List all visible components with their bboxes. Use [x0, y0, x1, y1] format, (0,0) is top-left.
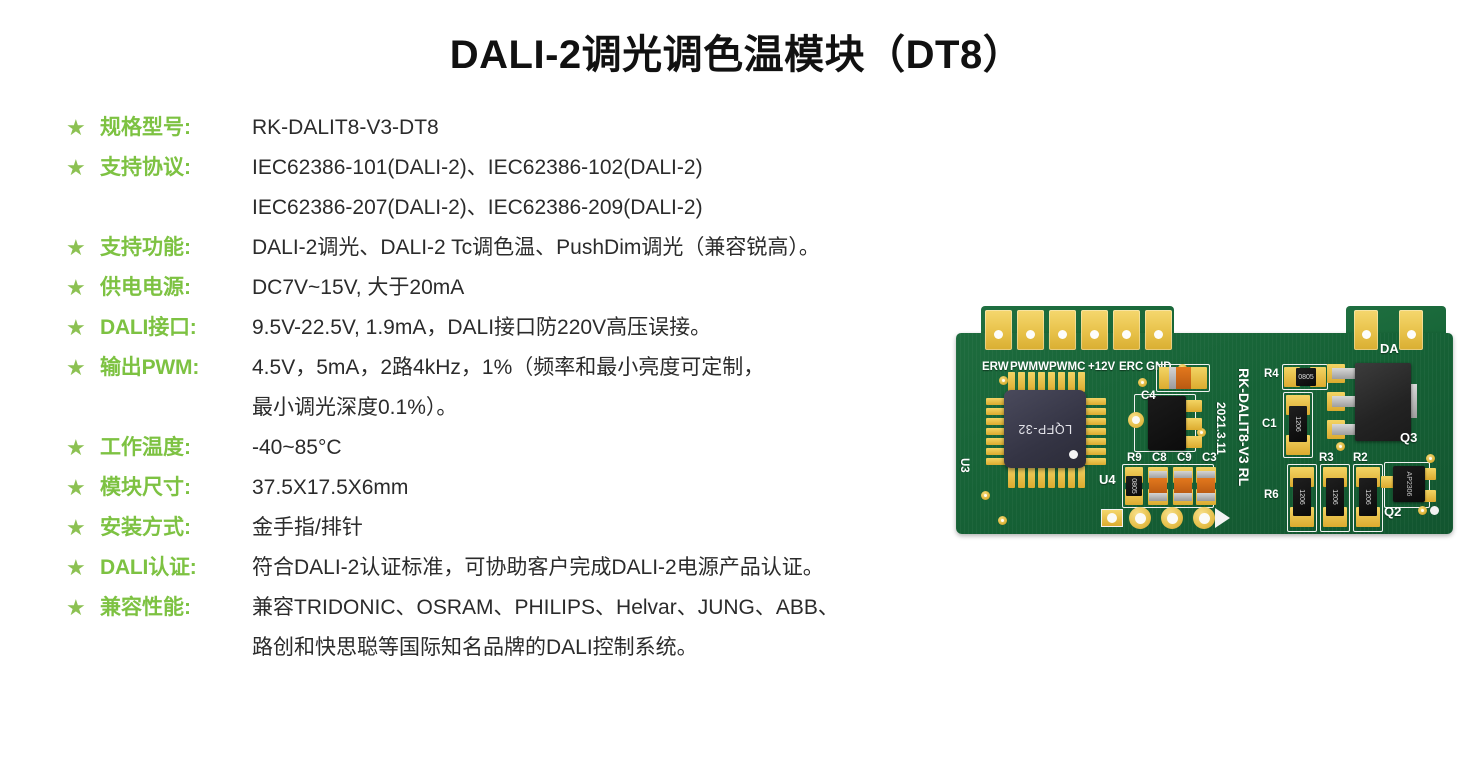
- cap-c4-term-a: [1169, 367, 1176, 389]
- spec-value-line: DALI-2调光、DALI-2 Tc调色温、PushDim调光（兼容锐高）。: [252, 232, 1026, 263]
- spec-label: 规格型号:: [100, 112, 252, 143]
- gold-finger-12v: [1081, 310, 1108, 350]
- ref-label-r3: R3: [1319, 452, 1334, 464]
- spec-values: DALI-2调光、DALI-2 Tc调色温、PushDim调光（兼容锐高）。: [252, 232, 1026, 263]
- star-icon: ★: [66, 432, 100, 463]
- finger-hole: [1407, 330, 1416, 339]
- finger-hole: [994, 330, 1003, 339]
- q3-leg-2: [1332, 396, 1356, 407]
- spec-label: 安装方式:: [100, 512, 252, 543]
- spec-row: ★ 工作温度: -40~85°C: [66, 432, 1026, 463]
- star-icon: ★: [66, 152, 100, 183]
- star-icon: ★: [66, 352, 100, 383]
- spec-value-line: 最小调光深度0.1%）。: [252, 392, 1026, 423]
- star-icon: ★: [66, 312, 100, 343]
- resistor-code: 0805: [1296, 368, 1316, 386]
- via: [998, 516, 1007, 525]
- spec-row: ★ 规格型号: RK-DALIT8-V3-DT8: [66, 112, 1026, 143]
- gold-finger-erc: [1113, 310, 1140, 350]
- spec-value-line: 37.5X17.5X6mm: [252, 472, 1026, 503]
- transistor-q2-body: AP2306: [1393, 466, 1425, 502]
- spec-value-line: 金手指/排针: [252, 512, 1026, 543]
- via: [1426, 454, 1435, 463]
- spec-values: -40~85°C: [252, 432, 1026, 463]
- star-icon: ★: [66, 552, 100, 583]
- regulator-tab-pad: [1128, 412, 1144, 428]
- resistor-code: 1206: [1349, 488, 1387, 506]
- ref-label-u3: U3: [958, 458, 970, 473]
- silkscreen-model-text: RK-DALIT8-V3 RL: [1236, 368, 1252, 486]
- ref-label-q3: Q3: [1400, 432, 1417, 444]
- page-title: DALI-2调光调色温模块（DT8）: [0, 22, 1473, 80]
- via: [1430, 506, 1439, 515]
- ref-label-u4: U4: [1099, 474, 1116, 486]
- spec-value-line: 路创和快思聪等国际知名品牌的DALI控制系统。: [252, 632, 1026, 663]
- ref-label-r6: R6: [1264, 489, 1279, 501]
- ref-label-q2: Q2: [1384, 506, 1401, 518]
- ref-label-c8: C8: [1152, 452, 1167, 464]
- spec-value-line: 4.5V，5mA，2路4kHz，1%（频率和最小亮度可定制，: [252, 352, 1026, 383]
- spec-values: RK-DALIT8-V3-DT8: [252, 112, 1026, 143]
- resistor-code: 0805: [1124, 478, 1144, 494]
- ref-label-r9: R9: [1127, 452, 1142, 464]
- ref-label-r2: R2: [1353, 452, 1368, 464]
- via: [1418, 506, 1427, 515]
- star-icon: ★: [66, 272, 100, 303]
- pcb-product-photo: DA ERW PWMW PWMC +12V ERC GND: [956, 306, 1453, 534]
- test-pad-round-1: [1129, 507, 1151, 529]
- spec-label: 输出PWM:: [100, 352, 252, 383]
- finger-hole: [1362, 330, 1371, 339]
- spec-list: ★ 规格型号: RK-DALIT8-V3-DT8 ★ 支持协议: IEC6238…: [66, 112, 1026, 672]
- gold-finger-pwmw: [1017, 310, 1044, 350]
- spec-row: ★ 模块尺寸: 37.5X17.5X6mm: [66, 472, 1026, 503]
- via: [1138, 378, 1147, 387]
- transistor-code: AP2306: [1391, 468, 1427, 500]
- ref-label-c4: C4: [1141, 390, 1156, 402]
- spec-label: 工作温度:: [100, 432, 252, 463]
- finger-hole: [1122, 330, 1131, 339]
- ref-label-r4: R4: [1264, 368, 1279, 380]
- ic-pin1-dot: [1069, 450, 1078, 459]
- spec-value-line: DC7V~15V, 大于20mA: [252, 272, 1026, 303]
- star-icon: ★: [66, 232, 100, 263]
- gold-finger-pwmc: [1049, 310, 1076, 350]
- finger-hole: [1154, 330, 1163, 339]
- ref-label-c9: C9: [1177, 452, 1192, 464]
- q3-leg-1: [1332, 368, 1356, 379]
- spec-value-line: 符合DALI-2认证标准，可协助客户完成DALI-2电源产品认证。: [252, 552, 1026, 583]
- product-spec-page: DALI-2调光调色温模块（DT8） ★ 规格型号: RK-DALIT8-V3-…: [0, 0, 1473, 783]
- pcb-board: DA ERW PWMW PWMC +12V ERC GND: [956, 306, 1453, 534]
- pad-label-12v: +12V: [1088, 361, 1115, 373]
- cap-c8-term-b: [1149, 493, 1167, 501]
- resistor-r2: 1206: [1359, 478, 1377, 516]
- spec-values: 金手指/排针: [252, 512, 1026, 543]
- cap-c8-body: [1149, 478, 1167, 494]
- spec-row: ★ DALI认证: 符合DALI-2认证标准，可协助客户完成DALI-2电源产品…: [66, 552, 1026, 583]
- capacitor-c1: 1206: [1289, 406, 1307, 442]
- finger-hole: [1026, 330, 1035, 339]
- cap-c4-body: [1175, 367, 1191, 389]
- spec-row: ★ 安装方式: 金手指/排针: [66, 512, 1026, 543]
- spec-label: DALI认证:: [100, 552, 252, 583]
- cap-c9-body: [1174, 478, 1192, 494]
- test-pad-round-3: [1193, 507, 1215, 529]
- polarity-triangle-marker: [1215, 508, 1230, 528]
- spec-value-line: 9.5V-22.5V, 1.9mA，DALI接口防220V高压误接。: [252, 312, 1026, 343]
- via: [981, 491, 990, 500]
- spec-label: 支持功能:: [100, 232, 252, 263]
- spec-value-line: 兼容TRIDONIC、OSRAM、PHILIPS、Helvar、JUNG、ABB…: [252, 592, 1026, 623]
- spec-values: 37.5X17.5X6mm: [252, 472, 1026, 503]
- resistor-r9: 0805: [1126, 476, 1142, 496]
- spec-row: ★ 支持协议: IEC62386-101(DALI-2)、IEC62386-10…: [66, 152, 1026, 223]
- spec-values: DC7V~15V, 大于20mA: [252, 272, 1026, 303]
- resistor-r6: 1206: [1293, 478, 1311, 516]
- spec-label: 模块尺寸:: [100, 472, 252, 503]
- spec-label: 供电电源:: [100, 272, 252, 303]
- cap-c9-term-b: [1174, 493, 1192, 501]
- spec-value-line: -40~85°C: [252, 432, 1026, 463]
- star-icon: ★: [66, 512, 100, 543]
- resistor-r4: 0805: [1296, 368, 1316, 386]
- via: [1336, 442, 1345, 451]
- spec-values: IEC62386-101(DALI-2)、IEC62386-102(DALI-2…: [252, 152, 1026, 223]
- star-icon: ★: [66, 112, 100, 143]
- spec-label: DALI接口:: [100, 312, 252, 343]
- spec-label: 支持协议:: [100, 152, 252, 183]
- star-icon: ★: [66, 472, 100, 503]
- spec-values: 符合DALI-2认证标准，可协助客户完成DALI-2电源产品认证。: [252, 552, 1026, 583]
- q3-leg-3: [1332, 424, 1356, 435]
- pad-label-da: DA: [1380, 343, 1399, 355]
- spec-value-line: IEC62386-207(DALI-2)、IEC62386-209(DALI-2…: [252, 192, 1026, 223]
- regulator-body: [1148, 396, 1186, 450]
- gold-finger-da-1: [1354, 310, 1378, 350]
- gold-finger-erw: [985, 310, 1012, 350]
- gold-finger-da-2: [1399, 310, 1423, 350]
- ic-lqfp-32: LQFP-32: [1004, 390, 1086, 468]
- ref-label-c1: C1: [1262, 418, 1277, 430]
- pad-label-erc: ERC: [1119, 361, 1143, 373]
- spec-label: 兼容性能:: [100, 592, 252, 623]
- gold-finger-gnd: [1145, 310, 1172, 350]
- via: [999, 376, 1008, 385]
- pad-label-erw: ERW: [982, 361, 1009, 373]
- spec-value-line: RK-DALIT8-V3-DT8: [252, 112, 1026, 143]
- spec-values: 9.5V-22.5V, 1.9mA，DALI接口防220V高压误接。: [252, 312, 1026, 343]
- spec-row: ★ 供电电源: DC7V~15V, 大于20mA: [66, 272, 1026, 303]
- spec-row: ★ 支持功能: DALI-2调光、DALI-2 Tc调色温、PushDim调光（…: [66, 232, 1026, 263]
- spec-row: ★ 兼容性能: 兼容TRIDONIC、OSRAM、PHILIPS、Helvar、…: [66, 592, 1026, 663]
- cap-c3-body: [1197, 478, 1215, 494]
- capacitor-code: 1206: [1280, 415, 1316, 433]
- finger-hole: [1058, 330, 1067, 339]
- test-pad-round-2: [1161, 507, 1183, 529]
- cap-c3-term-b: [1197, 493, 1215, 501]
- silkscreen-date-text: 2021.3.11: [1214, 402, 1228, 455]
- resistor-r3: 1206: [1326, 478, 1344, 516]
- spec-row: ★ DALI接口: 9.5V-22.5V, 1.9mA，DALI接口防220V高…: [66, 312, 1026, 343]
- test-pad-square: [1101, 509, 1123, 527]
- spec-value-line: IEC62386-101(DALI-2)、IEC62386-102(DALI-2…: [252, 152, 1026, 183]
- spec-row: ★ 输出PWM: 4.5V，5mA，2路4kHz，1%（频率和最小亮度可定制， …: [66, 352, 1026, 423]
- finger-hole: [1090, 330, 1099, 339]
- spec-values: 兼容TRIDONIC、OSRAM、PHILIPS、Helvar、JUNG、ABB…: [252, 592, 1026, 663]
- star-icon: ★: [66, 592, 100, 623]
- spec-values: 4.5V，5mA，2路4kHz，1%（频率和最小亮度可定制， 最小调光深度0.1…: [252, 352, 1026, 423]
